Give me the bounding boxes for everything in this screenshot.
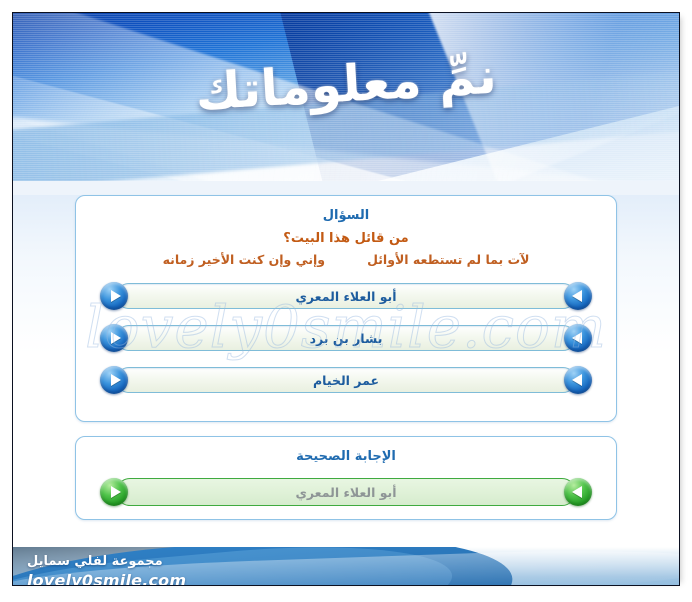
question-verse: لآت بما لم تستطعه الأوائل وإني وإن كنت ا… <box>90 250 602 270</box>
option-play-left-icon[interactable] <box>564 324 592 352</box>
footer-banner: مجموعة لفلي سمايل lovely0smile.com <box>13 547 679 586</box>
page-title: نمِّ معلوماتك <box>13 36 679 131</box>
header-banner: نمِّ معلوماتك <box>13 13 679 181</box>
footer-url-label: lovely0smile.com <box>27 571 186 586</box>
verse-first-hemistich: وإني وإن كنت الأخير زمانه <box>163 250 326 270</box>
option-play-right-icon[interactable] <box>100 324 128 352</box>
footer-branding: مجموعة لفلي سمايل lovely0smile.com <box>27 553 186 586</box>
option-row[interactable]: عمر الخيام <box>94 363 598 397</box>
option-label: أبو العلاء المعري <box>295 289 396 304</box>
screenshot-root: نمِّ معلوماتك lovely0smile.com السؤال من… <box>0 0 692 602</box>
verse-second-hemistich: لآت بما لم تستطعه الأوائل <box>367 250 529 270</box>
footer-arabic-label: مجموعة لفلي سمايل <box>27 553 186 571</box>
answer-play-right-icon[interactable] <box>100 478 128 506</box>
correct-answer-card: الإجابة الصحيحة أبو العلاء المعري <box>75 436 617 520</box>
content-frame: نمِّ معلوماتك lovely0smile.com السؤال من… <box>12 12 680 586</box>
answer-card-header: الإجابة الصحيحة <box>90 447 602 467</box>
correct-answer-row[interactable]: أبو العلاء المعري <box>94 475 598 509</box>
triangle-right-icon <box>111 374 121 386</box>
question-card-header: السؤال <box>90 206 602 226</box>
answer-options-list: أبو العلاء المعري بشار بن برد <box>90 279 602 397</box>
triangle-left-icon <box>572 290 582 302</box>
triangle-right-icon <box>111 290 121 302</box>
triangle-right-icon <box>111 486 121 498</box>
option-play-right-icon[interactable] <box>100 366 128 394</box>
question-card: السؤال من قائل هذا البيت؟ لآت بما لم تست… <box>75 195 617 422</box>
triangle-right-icon <box>111 332 121 344</box>
question-prompt: من قائل هذا البيت؟ <box>90 228 602 249</box>
option-play-left-icon[interactable] <box>564 282 592 310</box>
option-label: عمر الخيام <box>313 373 379 388</box>
triangle-left-icon <box>572 332 582 344</box>
option-play-right-icon[interactable] <box>100 282 128 310</box>
option-row[interactable]: أبو العلاء المعري <box>94 279 598 313</box>
answer-play-left-icon[interactable] <box>564 478 592 506</box>
content-body: lovely0smile.com السؤال من قائل هذا البي… <box>13 195 679 547</box>
correct-answer-label: أبو العلاء المعري <box>295 485 396 500</box>
option-label: بشار بن برد <box>310 331 383 346</box>
triangle-left-icon <box>572 374 582 386</box>
triangle-left-icon <box>572 486 582 498</box>
option-play-left-icon[interactable] <box>564 366 592 394</box>
option-row[interactable]: بشار بن برد <box>94 321 598 355</box>
